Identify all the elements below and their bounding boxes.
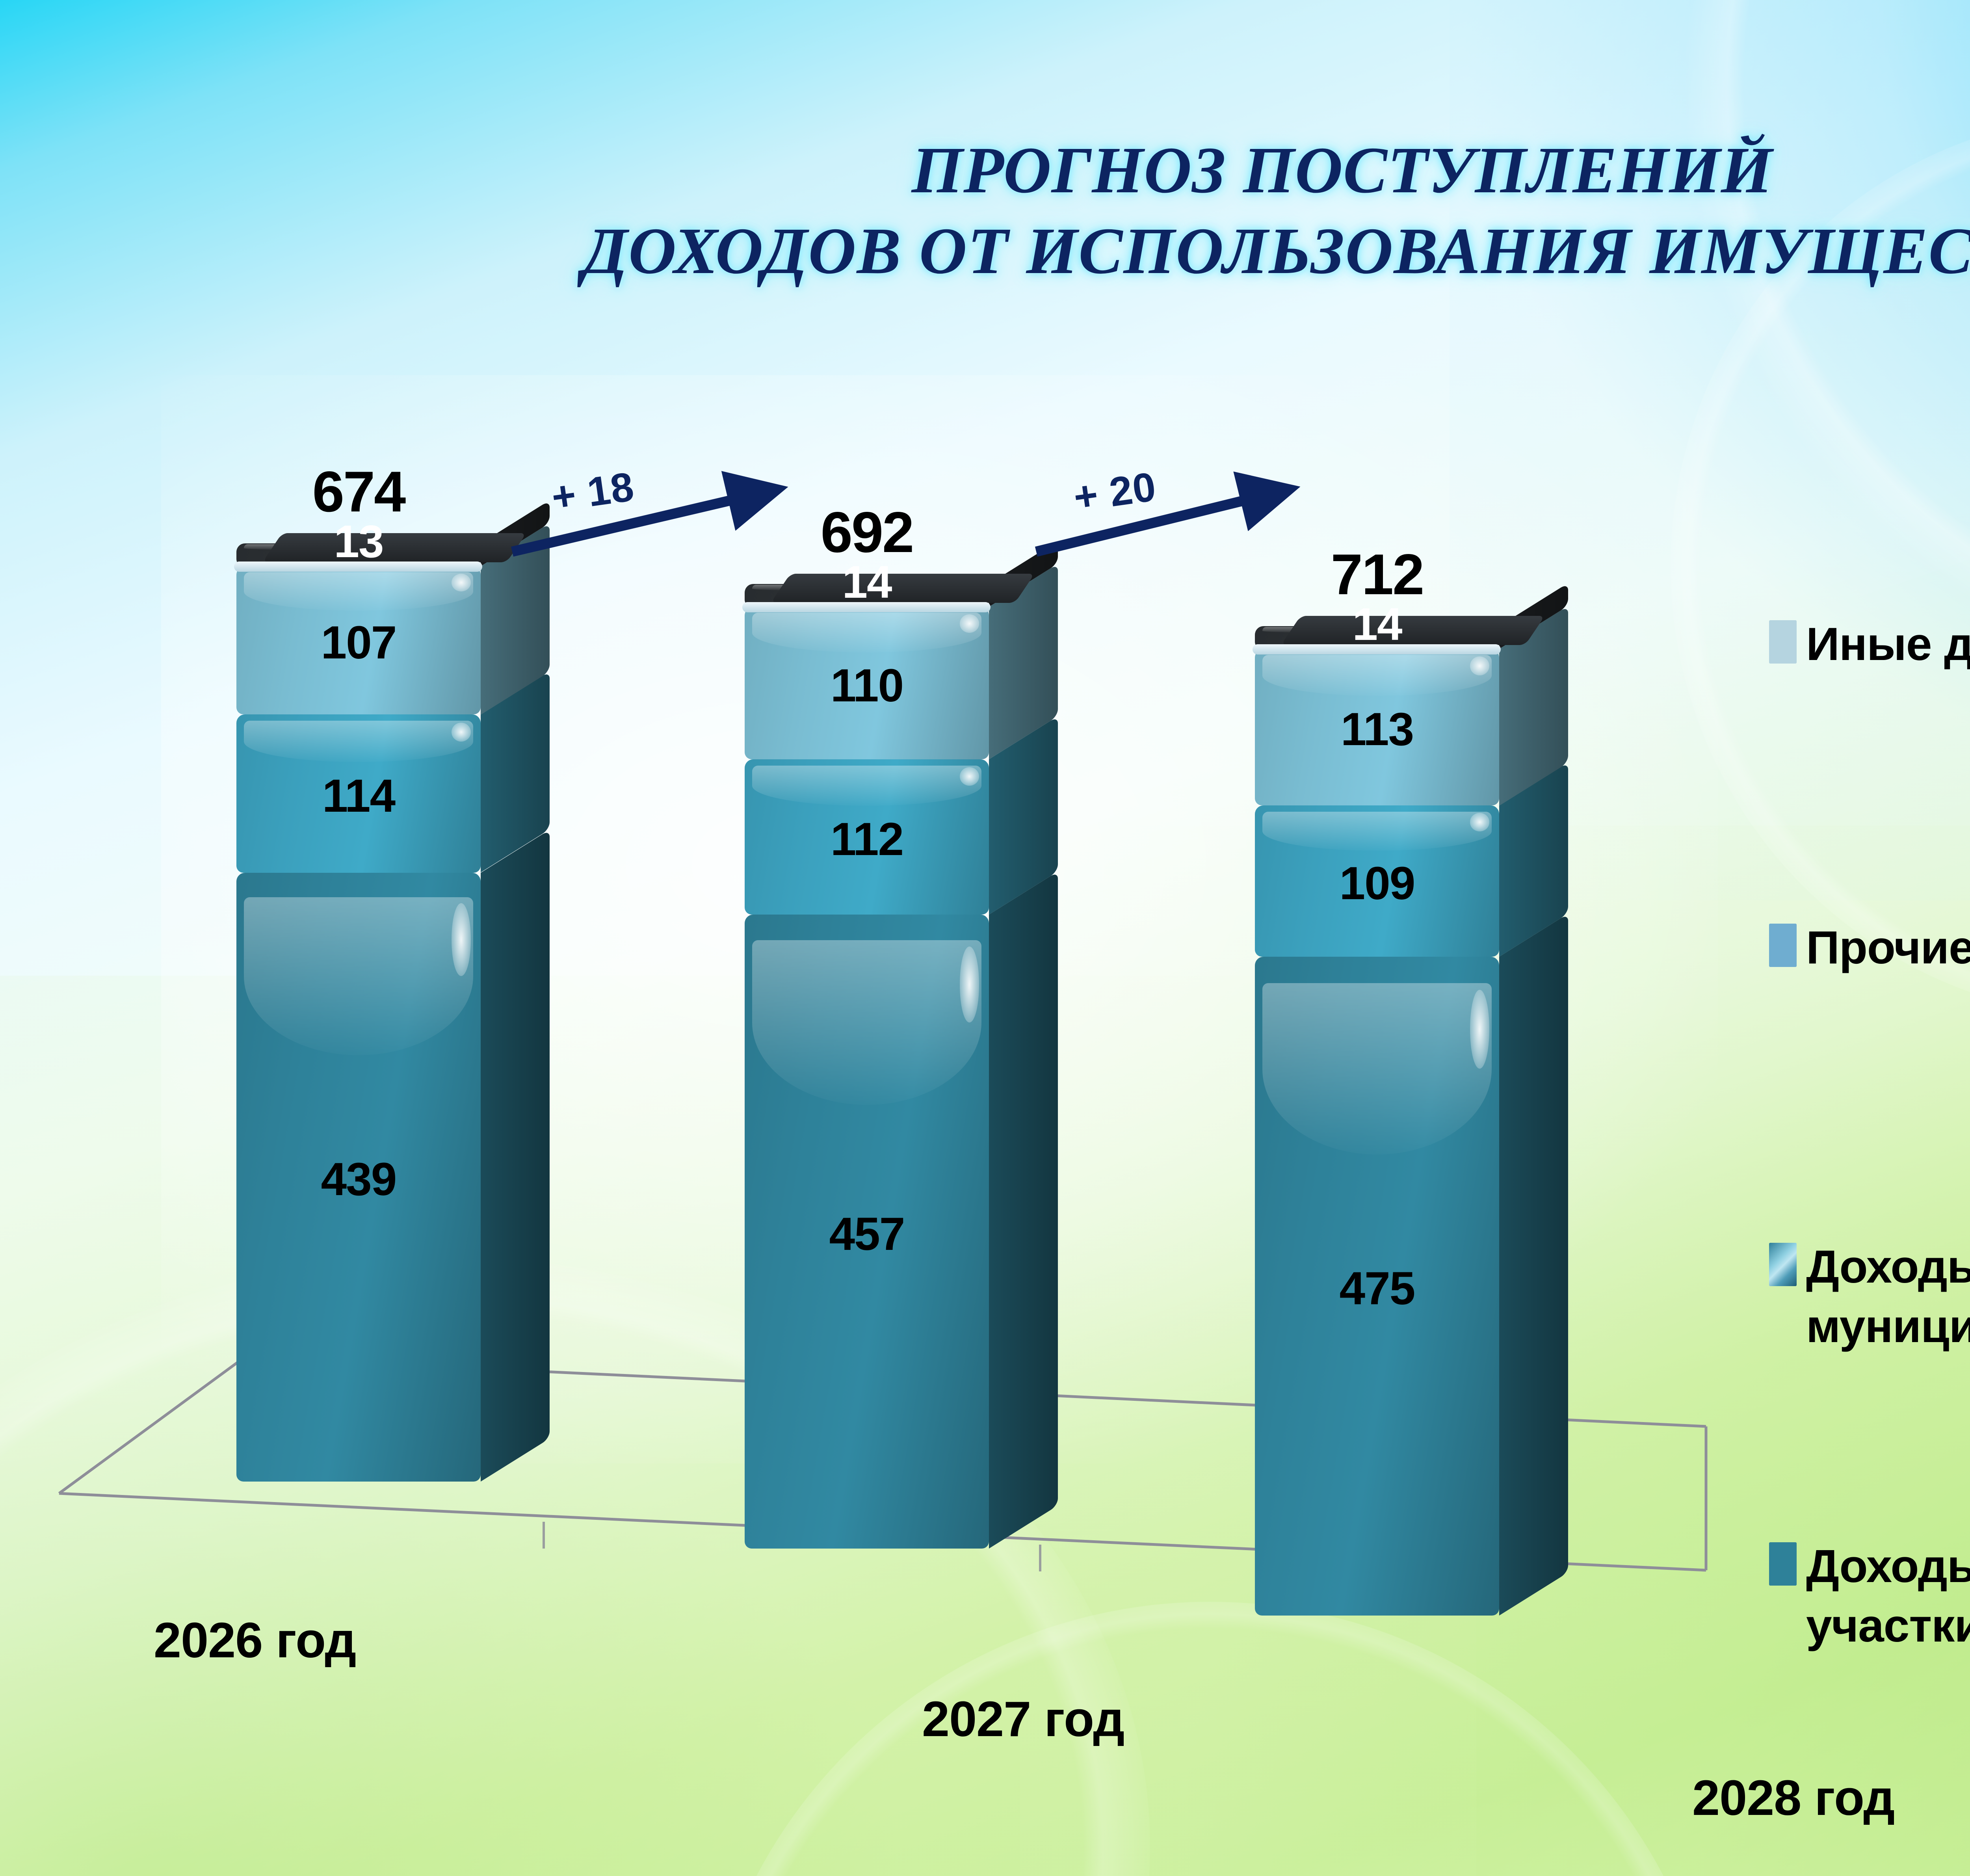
bar-segment-front — [745, 607, 989, 759]
bar-total-value: 674 — [232, 459, 485, 525]
bar-segment[interactable]: 107 — [236, 566, 481, 715]
legend-item[interactable]: Доходы от аренды за земельные участки — [1769, 1537, 1970, 1656]
legend-swatch — [1769, 1243, 1797, 1286]
legend-swatch — [1769, 924, 1797, 967]
bar-segment[interactable]: 110 — [745, 607, 989, 759]
legend-item[interactable]: Иные доходы — [1769, 615, 1970, 674]
title-line-2: ДОХОДОВ ОТ ИСПОЛЬЗОВАНИЯ ИМУЩЕСТВА — [0, 211, 1970, 292]
legend-label: Прочие доходы — [1806, 918, 1970, 978]
bar-segment-side — [989, 872, 1058, 1549]
bar-segment-front — [1255, 957, 1499, 1616]
bar-segment-side — [1499, 914, 1568, 1616]
legend-swatch — [1769, 620, 1797, 664]
legend-label: Доходы от аренды за земельные участки — [1806, 1537, 1970, 1656]
bar-segment-front — [745, 759, 989, 915]
bar-segment-side — [481, 829, 550, 1482]
bar-segment[interactable]: 14 — [1255, 626, 1499, 649]
bar-segment[interactable]: 114 — [236, 714, 481, 872]
bar-segment[interactable]: 13 — [236, 543, 481, 566]
floor-left-edge — [59, 1357, 244, 1493]
bar-year-label: 2026 год — [154, 1612, 356, 1669]
legend-item[interactable]: Доходы от сдачи в аренду муниципального … — [1769, 1237, 1970, 1356]
bar-segment[interactable]: 475 — [1255, 957, 1499, 1616]
bar-segment-front — [1255, 805, 1499, 957]
bar-segment[interactable]: 112 — [745, 759, 989, 915]
legend-item[interactable]: Прочие доходы — [1769, 918, 1970, 978]
bar-year-label: 2027 год — [922, 1690, 1124, 1748]
bar-segment[interactable]: 14 — [745, 584, 989, 607]
bar-segment-front — [236, 714, 481, 872]
title-line-1: ПРОГНОЗ ПОСТУПЛЕНИЙ — [0, 130, 1970, 211]
legend-label: Иные доходы — [1806, 615, 1970, 674]
bar-segment[interactable]: 113 — [1255, 649, 1499, 806]
bar-total-value: 692 — [741, 499, 993, 565]
bar-segment[interactable]: 457 — [745, 915, 989, 1549]
bar-segment-front — [745, 915, 989, 1549]
bar-segment[interactable]: 109 — [1255, 805, 1499, 957]
bar-segment[interactable]: 439 — [236, 873, 481, 1482]
bar-segment-front — [1255, 649, 1499, 806]
bar-total-value: 712 — [1251, 541, 1503, 608]
bar-segment-front — [236, 566, 481, 715]
bar-segment-front — [236, 873, 481, 1482]
bar-year-label: 2028 год — [1692, 1769, 1894, 1826]
legend-label: Доходы от сдачи в аренду муниципального … — [1806, 1237, 1970, 1356]
page-title: ПРОГНОЗ ПОСТУПЛЕНИЙ ДОХОДОВ ОТ ИСПОЛЬЗОВ… — [0, 130, 1970, 292]
legend-swatch — [1769, 1542, 1797, 1586]
